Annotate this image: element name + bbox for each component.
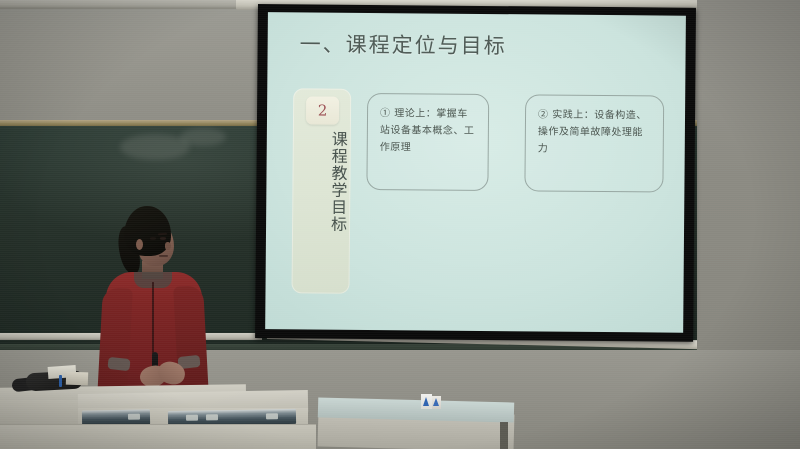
slide-side-panel-label: 课程教学目标	[292, 130, 351, 233]
slide-section-badge: 2	[306, 96, 339, 124]
projection-screen-surface: 一、课程定位与目标 2 课程教学目标 ① 理论上：掌握车站设备基本概念、工作原理…	[265, 12, 686, 333]
side-table-leg	[500, 422, 508, 449]
panel-button	[206, 414, 218, 420]
paper-cup-2	[432, 396, 441, 409]
paper-cup-marking	[423, 397, 429, 406]
podium-front-panel	[0, 424, 316, 449]
presenter-mouth	[159, 255, 168, 257]
presenter-nose	[165, 242, 171, 250]
slide-card-1: ① 理论上：掌握车站设备基本概念、工作原理	[366, 93, 489, 191]
slide-section-badge-number: 2	[306, 96, 339, 124]
slide-card-1-text: ① 理论上：掌握车站设备基本概念、工作原理	[380, 105, 477, 157]
slide-card-2-text: ② 实践上：设备构造、操作及简单故障处理能力	[538, 106, 652, 158]
paper-cup-2-marking	[433, 398, 439, 406]
desk-item-blue-pen	[59, 375, 62, 387]
desk-item-paper-2	[66, 372, 88, 386]
chalk-smudge	[180, 128, 226, 146]
projection-screen-frame: 一、课程定位与目标 2 课程教学目标 ① 理论上：掌握车站设备基本概念、工作原理…	[255, 4, 696, 342]
panel-button	[128, 414, 140, 420]
classroom-photo-scene: 一、课程定位与目标 2 课程教学目标 ① 理论上：掌握车站设备基本概念、工作原理…	[0, 0, 800, 449]
presenter-left-cuff	[107, 357, 130, 371]
slide-title: 一、课程定位与目标	[300, 28, 507, 60]
panel-button	[266, 413, 278, 419]
presenter-left-arm	[97, 287, 133, 400]
presenter-hair	[124, 206, 171, 256]
slide-card-2: ② 实践上：设备构造、操作及简单故障处理能力	[524, 94, 664, 192]
panel-button	[186, 415, 198, 421]
presenter-ear	[136, 239, 143, 250]
paper-cup	[421, 394, 432, 409]
presenter-eye-near	[160, 237, 166, 240]
presenter-eye-far	[150, 237, 156, 240]
slide-side-panel: 2 课程教学目标	[291, 88, 351, 293]
